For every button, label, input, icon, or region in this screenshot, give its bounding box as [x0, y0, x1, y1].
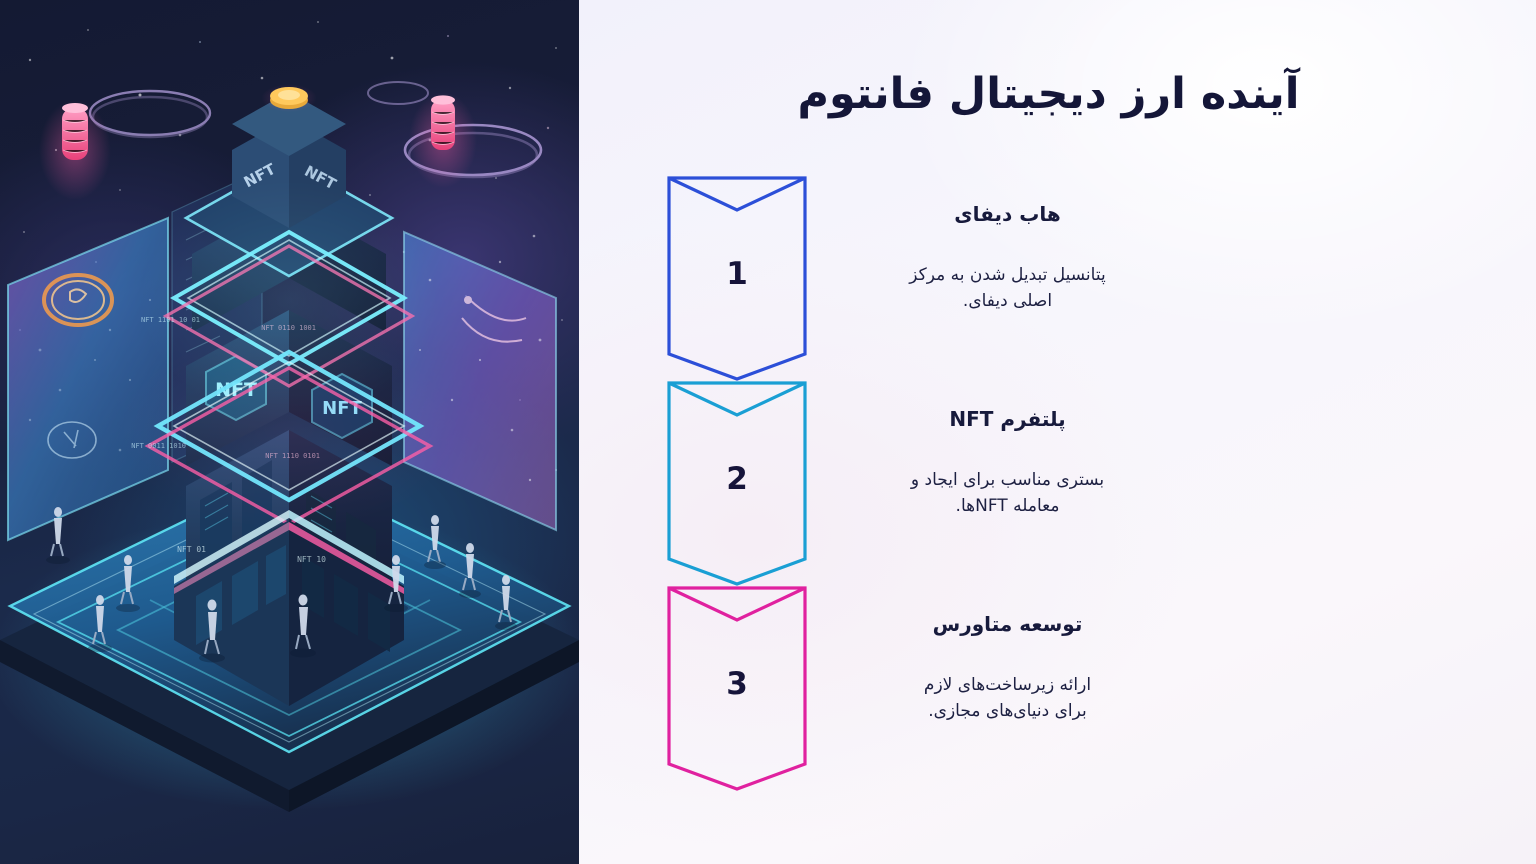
step-chevron-1[interactable]: 1 [667, 176, 807, 381]
step-chevron-3[interactable]: 3 [667, 586, 807, 791]
step-title: پلتفرم NFT [909, 405, 1106, 433]
step-number: 3 [667, 666, 807, 702]
step-description: پتانسیل تبدیل شدن به مرکز اصلی دیفای. [909, 262, 1106, 315]
step-text-block: پلتفرم NFT بستری مناسب برای ایجاد و معام… [909, 405, 1106, 520]
coin-stack-icon [409, 92, 477, 188]
step-description: ارائه زیرساخت‌های لازم برای دنیای‌های مج… [909, 672, 1106, 725]
isometric-scene-icon: NFT NFT NFT NFT [0, 0, 579, 864]
step-number: 2 [667, 461, 807, 497]
list-item: 3 توسعه متاورس ارائه زیرساخت‌های لازم بر… [579, 586, 1536, 791]
step-number: 1 [667, 256, 807, 292]
step-chevron-2[interactable]: 2 [667, 381, 807, 586]
list-item: 2 پلتفرم NFT بستری مناسب برای ایجاد و مع… [579, 381, 1536, 586]
illustration-nft-tower: NFT NFT NFT NFT [0, 0, 579, 864]
content-panel: آینده ارز دیجیتال فانتوم 1 هاب دیفای پتا… [579, 0, 1536, 864]
page-title: آینده ارز دیجیتال فانتوم [579, 68, 1536, 122]
step-title: هاب دیفای [909, 200, 1106, 228]
slide-root: آینده ارز دیجیتال فانتوم 1 هاب دیفای پتا… [0, 0, 1536, 864]
coin-stack-icon [39, 100, 111, 200]
svg-text:NFT 01: NFT 01 [177, 545, 206, 554]
steps-list: 1 هاب دیفای پتانسیل تبدیل شدن به مرکز اص… [579, 176, 1536, 791]
floating-ring-icon [368, 82, 428, 104]
step-description: بستری مناسب برای ایجاد و معامله NFTها. [909, 467, 1106, 520]
step-text-block: هاب دیفای پتانسیل تبدیل شدن به مرکز اصلی… [909, 200, 1106, 315]
step-title: توسعه متاورس [909, 610, 1106, 638]
svg-text:NFT 10: NFT 10 [297, 555, 326, 564]
step-text-block: توسعه متاورس ارائه زیرساخت‌های لازم برای… [909, 610, 1106, 725]
list-item: 1 هاب دیفای پتانسیل تبدیل شدن به مرکز اص… [579, 176, 1536, 381]
gold-coin-icon [261, 84, 317, 112]
